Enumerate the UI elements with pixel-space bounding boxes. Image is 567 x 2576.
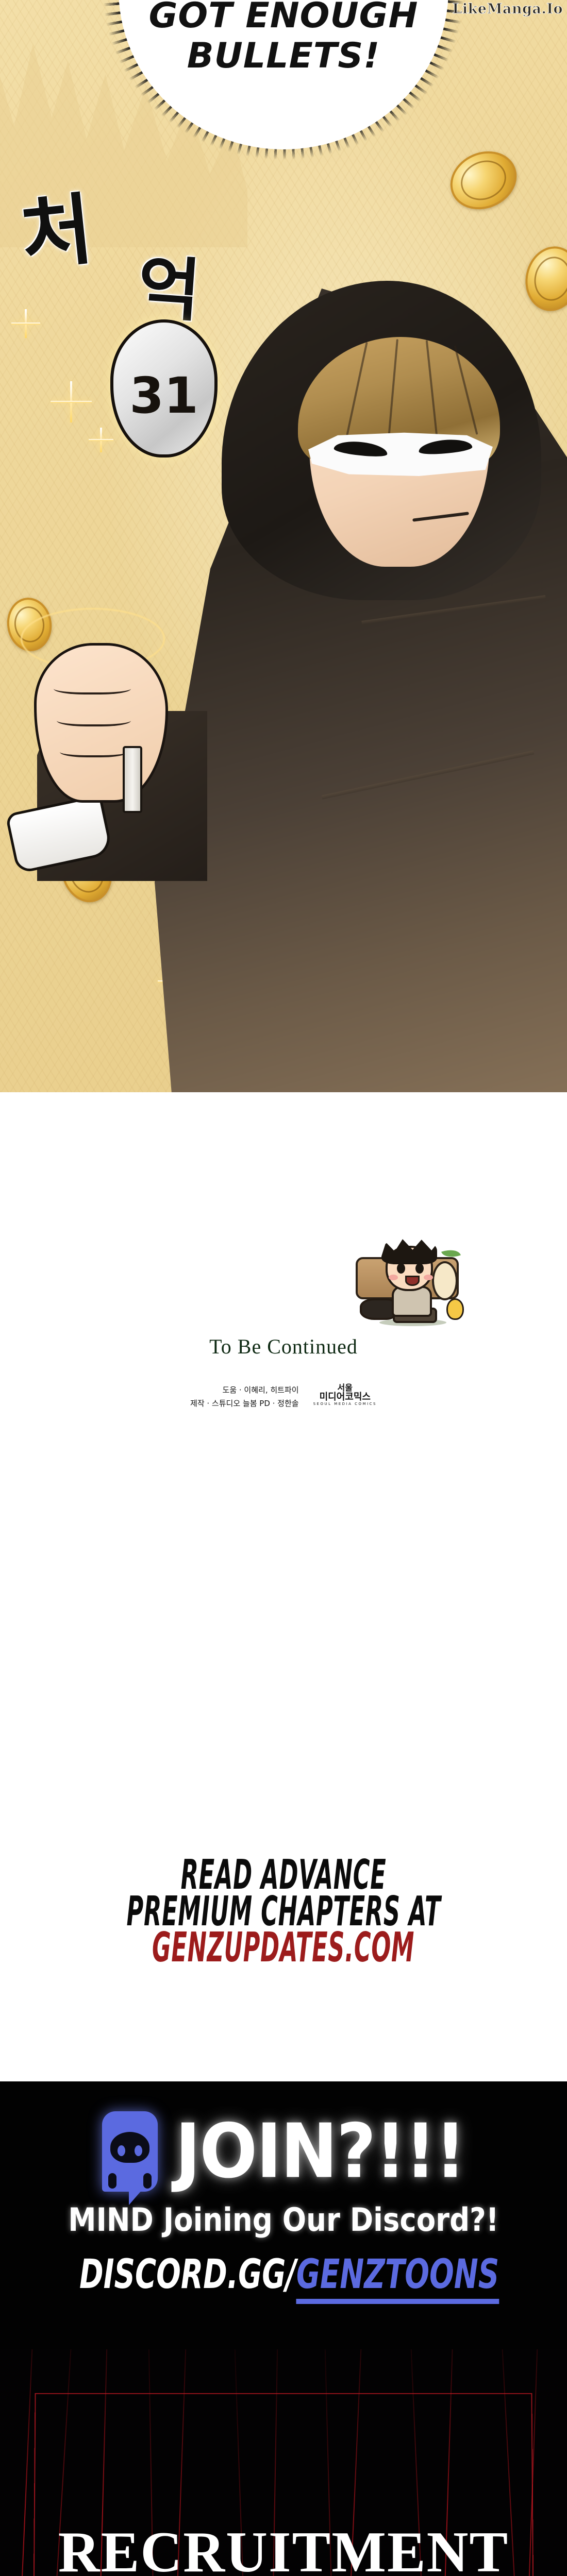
discord-join-row: JOIN?!!! — [0, 2111, 567, 2192]
held-card — [123, 746, 142, 813]
discord-face — [110, 2132, 149, 2163]
credits-lines: 도움 · 이혜리, 히트파이 제작 · 스튜디오 늘봄 PD · 정한솔 — [190, 1384, 299, 1410]
token-number: 31 — [129, 367, 198, 425]
chibi-eye-right — [415, 1263, 424, 1274]
gold-coin — [520, 242, 567, 316]
credit-line-2: 제작 · 스튜디오 늘봄 PD · 정한솔 — [190, 1397, 299, 1411]
publisher-line-2: 미디어코믹스 — [313, 1393, 377, 1402]
discord-join-text: JOIN?!!! — [175, 2108, 465, 2195]
to-be-continued-panel: To Be Continued 도움 · 이혜리, 히트파이 제작 · 스튜디오… — [0, 1092, 567, 1710]
discord-ear-right — [143, 2173, 152, 2189]
finger-crease — [57, 712, 131, 726]
chibi-cheek-left — [389, 1275, 398, 1280]
dog-icon — [360, 1298, 396, 1320]
discord-url-domain: DISCORD.GG/ — [79, 2251, 296, 2298]
credits-block: 도움 · 이혜리, 히트파이 제작 · 스튜디오 늘봄 PD · 정한솔 서울 … — [0, 1384, 567, 1410]
promo-website-link[interactable]: GENZUPDATES.COM — [152, 1926, 414, 1969]
chibi-mouth — [405, 1276, 420, 1286]
publisher-logo: 서울 미디어코믹스 SEOUL MEDIA COMICS — [313, 1384, 377, 1406]
speech-line-2: BULLETS! — [124, 36, 443, 76]
recruitment-panel: RECRUITMENT WE ARE ACTIVELY RECRUITING F… — [0, 2349, 567, 2576]
speech-line-1: GOT ENOUGH — [124, 0, 443, 36]
chibi-cheek-right — [424, 1275, 433, 1280]
site-watermark: LikeManga.Io — [452, 1, 563, 17]
sparkle-icon — [11, 309, 40, 338]
credit-line-1: 도움 · 이혜리, 히트파이 — [190, 1384, 299, 1397]
sparkle-icon — [51, 381, 92, 422]
chibi-hair — [381, 1238, 437, 1264]
discord-url-slug: GENZTOONS — [296, 2251, 499, 2304]
speech-bubble-text: GOT ENOUGH BULLETS! — [124, 0, 443, 76]
webtoon-page: GOT ENOUGH BULLETS! LikeManga.Io 처 억 31 — [0, 0, 567, 2576]
sparkle-icon — [89, 428, 113, 452]
silver-token: 31 — [110, 319, 218, 457]
chick-icon — [446, 1298, 464, 1320]
finger-crease — [60, 744, 128, 757]
discord-ear-left — [108, 2173, 116, 2189]
discord-subtitle: MIND Joining Our Discord?! — [34, 2201, 533, 2239]
finger-crease — [54, 680, 131, 694]
discord-join-banner: JOIN?!!! MIND Joining Our Discord?! DISC… — [0, 2081, 567, 2349]
to-be-continued-title: To Be Continued — [0, 1334, 567, 1359]
premium-promo-panel: READ ADVANCE PREMIUM CHAPTERS AT GENZUPD… — [0, 1710, 567, 2081]
character-mask — [308, 432, 493, 476]
chibi-lumberjack-illustration — [356, 1230, 464, 1323]
discord-invite-link[interactable]: DISCORD.GG/GENZTOONS — [79, 2251, 488, 2298]
publisher-line-3: SEOUL MEDIA COMICS — [313, 1402, 377, 1406]
gold-coin — [441, 141, 526, 219]
sfx-text-1: 처 — [15, 166, 97, 285]
chibi-eye-left — [397, 1263, 405, 1274]
discord-icon — [102, 2111, 158, 2192]
comic-panel-art: GOT ENOUGH BULLETS! LikeManga.Io 처 억 31 — [0, 0, 567, 1092]
recruitment-title: RECRUITMENT — [0, 2519, 567, 2576]
